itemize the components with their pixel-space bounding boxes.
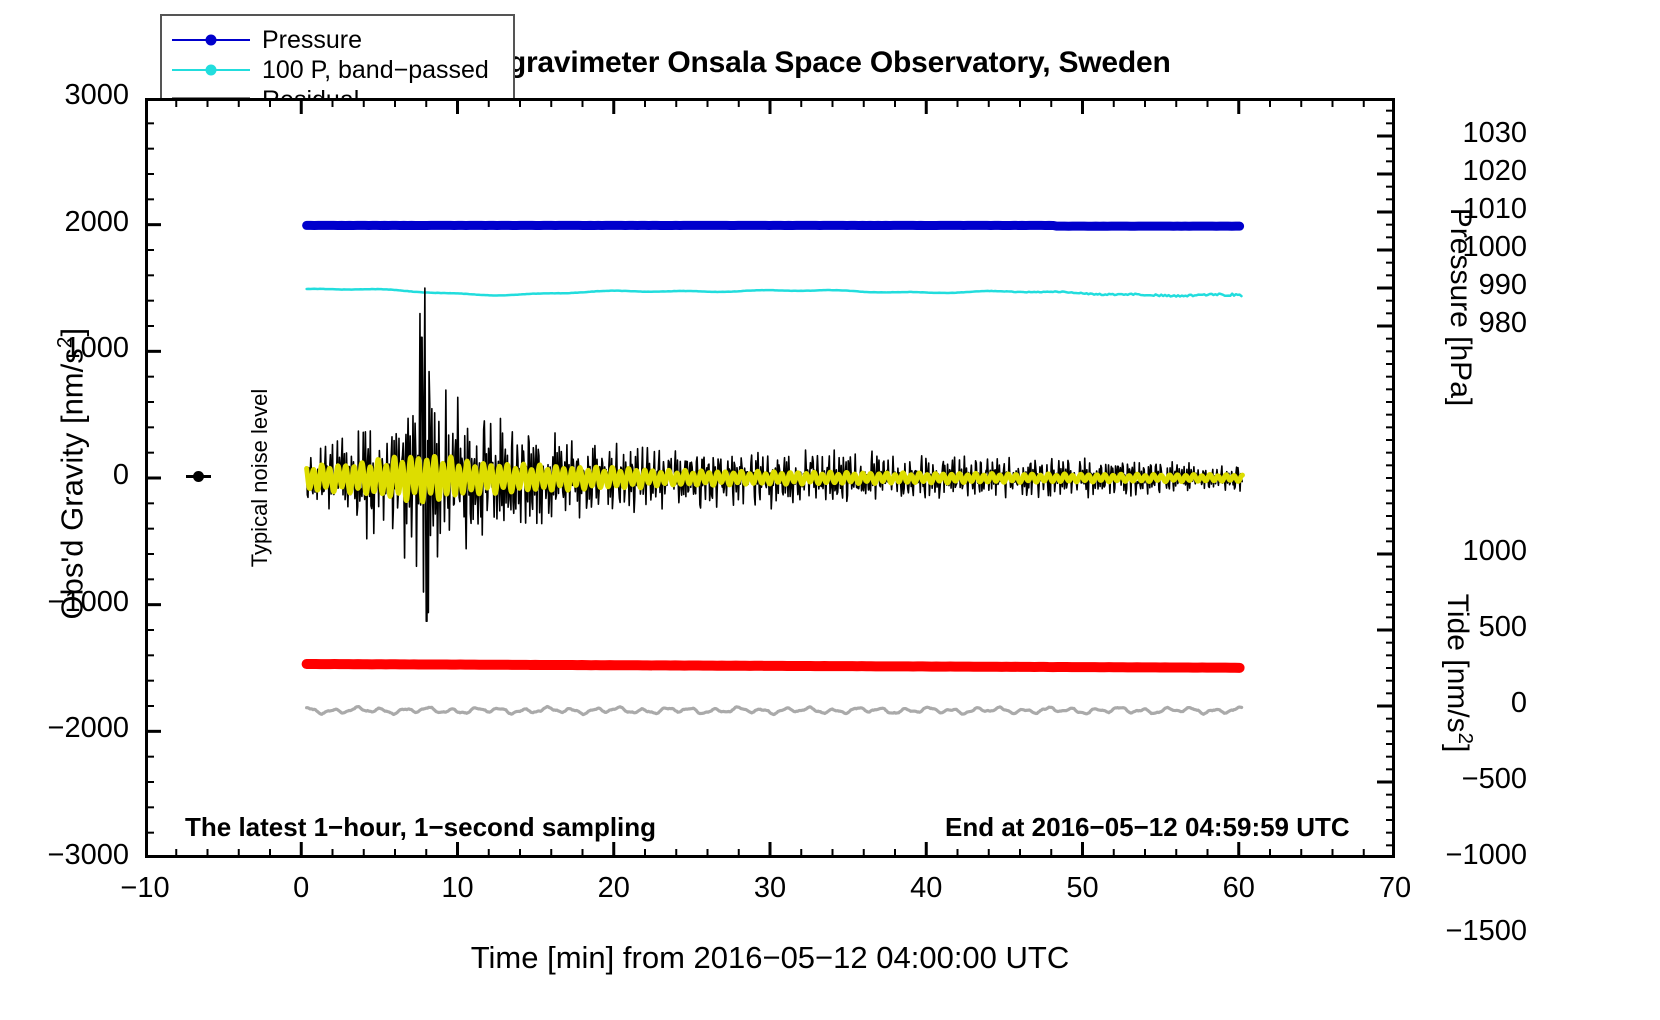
x-tick-label: −10 [85,872,205,905]
y-right-pressure-tick-label: 990 [1409,269,1527,302]
series-residual [307,288,1243,621]
legend-item-label: Pressure [262,28,362,53]
x-tick-label: 0 [241,872,361,905]
x-tick-label: 50 [1023,872,1143,905]
x-tick-label: 30 [710,872,830,905]
y-left-tick-label: 2000 [9,206,129,239]
y-right-tide-tick-label: −1500 [1409,915,1527,948]
y-left-tick-label: −1000 [9,586,129,619]
tide-title-sup: 2 [1454,733,1476,744]
x-tick-label: 60 [1179,872,1299,905]
noise-level-label: Typical noise level [247,348,273,608]
y-left-tick-label: 0 [9,459,129,492]
y-right-tide-tick-label: −500 [1409,763,1527,796]
sampling-note: The latest 1−hour, 1−second sampling [185,812,656,843]
plot-area [145,98,1395,858]
y-left-tick-label: 3000 [9,79,129,112]
x-tick-label: 40 [866,872,986,905]
plot-series-svg [148,101,1392,855]
y-right-tide-tick-label: 1000 [1409,535,1527,568]
series-last-10-min [307,707,1242,715]
tide-title-tail: ] [1441,744,1474,752]
series-bandpassed [307,289,1242,297]
x-axis-title: Time [min] from 2016−05−12 04:00:00 UTC [145,940,1395,976]
y-right-tide-tick-label: 500 [1409,611,1527,644]
legend-swatch-icon [172,59,250,81]
x-tick-label: 20 [554,872,674,905]
y-right-pressure-tick-label: 1010 [1409,193,1527,226]
y-right-pressure-tick-label: 980 [1409,307,1527,340]
chart-canvas: SCG_054 gravimeter Onsala Space Observat… [0,0,1660,1020]
y-right-tide-tick-label: −1000 [1409,839,1527,872]
y-left-tick-label: 1000 [9,332,129,365]
legend-swatch-icon [172,29,250,51]
y-right-pressure-tick-label: 1020 [1409,155,1527,188]
y-right-pressure-tick-label: 1000 [1409,231,1527,264]
legend-item-0[interactable]: Pressure [172,25,507,55]
x-tick-label: 10 [398,872,518,905]
series-pressure [307,225,1240,226]
y-left-tick-label: −2000 [9,712,129,745]
y-right-tide-tick-label: 0 [1409,687,1527,720]
noise-level-dot [193,471,204,482]
series-theor-tide [307,664,1240,668]
x-tick-label: 70 [1335,872,1455,905]
legend-item-label: 100 P, band−passed [262,58,489,83]
end-time-note: End at 2016−05−12 04:59:59 UTC [945,812,1350,843]
y-right-pressure-tick-label: 1030 [1409,117,1527,150]
legend-item-1[interactable]: 100 P, band−passed [172,55,507,85]
y-left-tick-label: −3000 [9,839,129,872]
